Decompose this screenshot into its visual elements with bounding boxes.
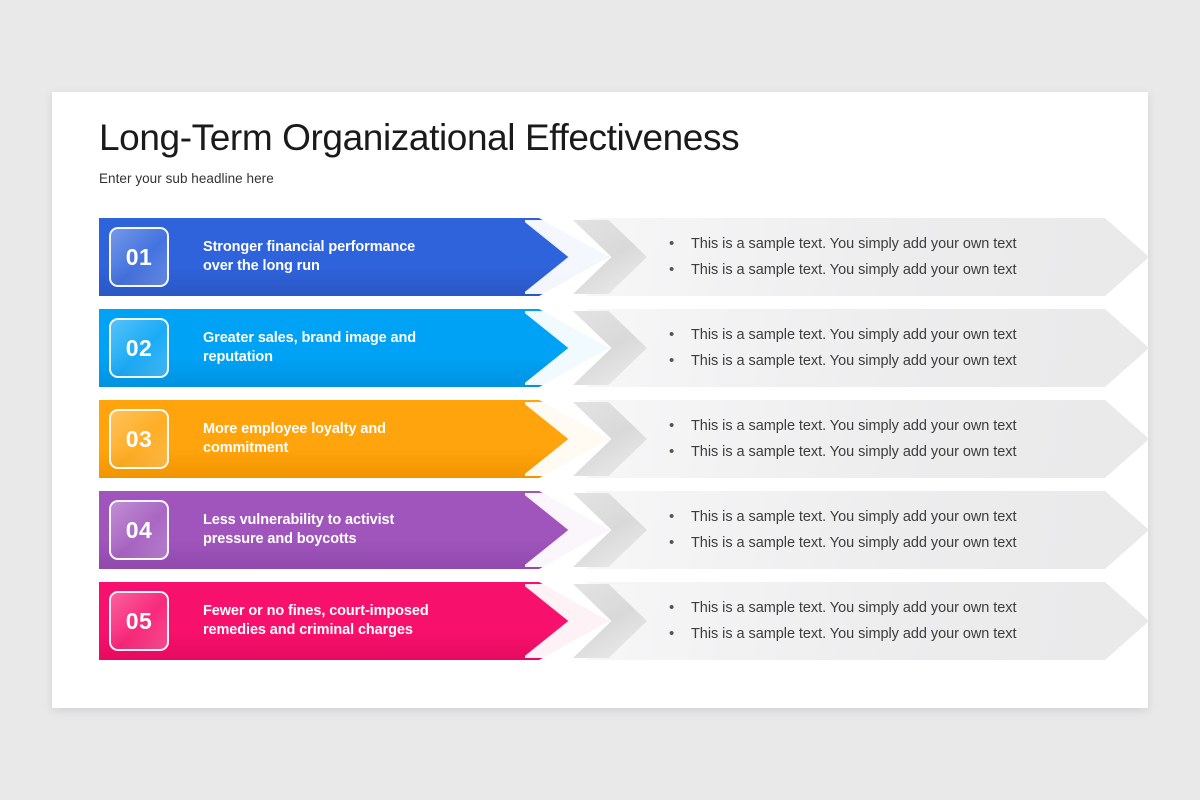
slide-card: Long-Term Organizational Effectiveness E… (52, 92, 1148, 708)
bullet-item: •This is a sample text. You simply add y… (669, 327, 1016, 343)
step-heading-line1: Stronger financial performance (203, 238, 533, 257)
bullet-text: This is a sample text. You simply add yo… (691, 262, 1016, 278)
process-row-03[interactable]: 03 More employee loyalty and commitment … (99, 400, 1109, 478)
step-number-label: 02 (126, 335, 152, 362)
step-arrow-bar-02[interactable]: 02 Greater sales, brand image and reputa… (99, 309, 609, 387)
bullet-item: •This is a sample text. You simply add y… (669, 444, 1016, 460)
bullet-dot-icon: • (669, 600, 691, 615)
slide-header: Long-Term Organizational Effectiveness E… (99, 117, 1099, 186)
page-title: Long-Term Organizational Effectiveness (99, 117, 1099, 158)
bullet-text: This is a sample text. You simply add yo… (691, 600, 1016, 616)
bullet-list: •This is a sample text. You simply add y… (669, 582, 1016, 660)
bullet-item: •This is a sample text. You simply add y… (669, 353, 1016, 369)
step-heading: Fewer or no fines, court-imposed remedie… (203, 582, 533, 660)
step-number-label: 05 (126, 608, 152, 635)
step-heading-line2: pressure and boycotts (203, 530, 533, 549)
step-heading-line1: Fewer or no fines, court-imposed (203, 602, 533, 621)
bullet-text: This is a sample text. You simply add yo… (691, 353, 1016, 369)
process-row-02[interactable]: 02 Greater sales, brand image and reputa… (99, 309, 1109, 387)
bullet-dot-icon: • (669, 535, 691, 550)
bullet-dot-icon: • (669, 327, 691, 342)
step-heading-line1: Greater sales, brand image and (203, 329, 533, 348)
step-number-badge: 04 (109, 500, 169, 560)
step-heading-line2: remedies and criminal charges (203, 621, 533, 640)
bullet-text: This is a sample text. You simply add yo… (691, 535, 1016, 551)
bullet-item: •This is a sample text. You simply add y… (669, 626, 1016, 642)
step-heading: Stronger financial performance over the … (203, 218, 533, 296)
bullet-dot-icon: • (669, 509, 691, 524)
step-number-badge: 01 (109, 227, 169, 287)
bullet-dot-icon: • (669, 353, 691, 368)
bullet-dot-icon: • (669, 444, 691, 459)
step-number-badge: 02 (109, 318, 169, 378)
step-heading-line2: commitment (203, 439, 533, 458)
bullet-list: •This is a sample text. You simply add y… (669, 400, 1016, 478)
step-heading: More employee loyalty and commitment (203, 400, 533, 478)
bullet-item: •This is a sample text. You simply add y… (669, 262, 1016, 278)
process-row-01[interactable]: 01 Stronger financial performance over t… (99, 218, 1109, 296)
bullet-dot-icon: • (669, 262, 691, 277)
page-subtitle: Enter your sub headline here (99, 171, 1099, 186)
step-arrow-bar-03[interactable]: 03 More employee loyalty and commitment (99, 400, 609, 478)
bullet-text: This is a sample text. You simply add yo… (691, 626, 1016, 642)
bullet-list: •This is a sample text. You simply add y… (669, 491, 1016, 569)
bullet-dot-icon: • (669, 236, 691, 251)
process-list: 01 Stronger financial performance over t… (99, 218, 1109, 660)
bullet-list: •This is a sample text. You simply add y… (669, 218, 1016, 296)
bullet-text: This is a sample text. You simply add yo… (691, 509, 1016, 525)
bullet-text: This is a sample text. You simply add yo… (691, 418, 1016, 434)
step-number-label: 04 (126, 517, 152, 544)
bullet-text: This is a sample text. You simply add yo… (691, 327, 1016, 343)
step-heading: Less vulnerability to activist pressure … (203, 491, 533, 569)
process-row-04[interactable]: 04 Less vulnerability to activist pressu… (99, 491, 1109, 569)
bullet-list: •This is a sample text. You simply add y… (669, 309, 1016, 387)
process-row-05[interactable]: 05 Fewer or no fines, court-imposed reme… (99, 582, 1109, 660)
step-heading-line2: over the long run (203, 257, 533, 276)
bullet-item: •This is a sample text. You simply add y… (669, 600, 1016, 616)
bullet-item: •This is a sample text. You simply add y… (669, 509, 1016, 525)
step-heading-line1: More employee loyalty and (203, 420, 533, 439)
bullet-dot-icon: • (669, 418, 691, 433)
bullet-text: This is a sample text. You simply add yo… (691, 236, 1016, 252)
step-heading: Greater sales, brand image and reputatio… (203, 309, 533, 387)
step-arrow-bar-04[interactable]: 04 Less vulnerability to activist pressu… (99, 491, 609, 569)
step-heading-line1: Less vulnerability to activist (203, 511, 533, 530)
bullet-text: This is a sample text. You simply add yo… (691, 444, 1016, 460)
bullet-item: •This is a sample text. You simply add y… (669, 236, 1016, 252)
bullet-item: •This is a sample text. You simply add y… (669, 418, 1016, 434)
step-number-badge: 05 (109, 591, 169, 651)
step-number-label: 03 (126, 426, 152, 453)
step-arrow-bar-01[interactable]: 01 Stronger financial performance over t… (99, 218, 609, 296)
step-arrow-bar-05[interactable]: 05 Fewer or no fines, court-imposed reme… (99, 582, 609, 660)
bullet-item: •This is a sample text. You simply add y… (669, 535, 1016, 551)
step-number-label: 01 (126, 244, 152, 271)
step-number-badge: 03 (109, 409, 169, 469)
step-heading-line2: reputation (203, 348, 533, 367)
bullet-dot-icon: • (669, 626, 691, 641)
